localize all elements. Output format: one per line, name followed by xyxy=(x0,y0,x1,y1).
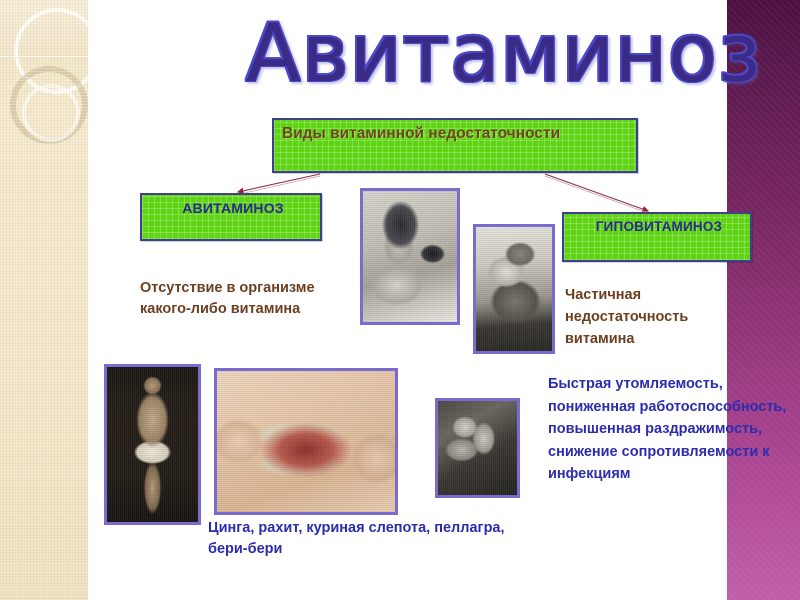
definition-hypovitaminoz: Частичная недостаточность витамина xyxy=(565,284,745,350)
photo-grain-overlay xyxy=(363,191,457,322)
box-avitaminoz: АВИТАМИНОЗ xyxy=(140,193,322,241)
photo-woman-feeding-spoon xyxy=(360,188,460,325)
presentation-slide: Авитаминоз Виды витаминной недостаточнос… xyxy=(0,0,800,600)
connector-shadow-left xyxy=(240,176,320,194)
box-top-label: Виды витаминной недостаточности xyxy=(282,124,632,143)
decorative-ring-icon xyxy=(10,66,88,144)
symptoms-list: Быстрая утомляемость, пониженная работос… xyxy=(548,373,798,486)
band-top-slice xyxy=(0,0,88,57)
diseases-caption: Цинга, рахит, куриная слепота, пеллагра,… xyxy=(208,518,508,560)
photo-grain-overlay xyxy=(217,371,395,512)
connector-to-hypovitaminoz xyxy=(545,174,648,211)
band-rings-group xyxy=(0,0,88,300)
connector-shadow-right xyxy=(545,176,648,213)
connector-to-avitaminoz xyxy=(238,174,320,192)
photo-grain-overlay xyxy=(476,227,552,351)
photo-grain-overlay xyxy=(107,367,198,522)
decorative-ring-icon xyxy=(14,8,88,94)
photo-scurvy-gums-mouth xyxy=(214,368,398,515)
box-right-label: ГИПОВИТАМИНОЗ xyxy=(564,219,754,234)
photo-grain-overlay xyxy=(438,401,517,495)
photo-malnourished-child xyxy=(104,364,201,525)
slide-title: Авитаминоз xyxy=(246,6,716,104)
box-hypovitaminoz: ГИПОВИТАМИНОЗ xyxy=(562,212,752,262)
decorative-ring-icon xyxy=(22,84,80,142)
box-left-label: АВИТАМИНОЗ xyxy=(142,200,324,216)
box-vitamin-deficiency-types: Виды витаминной недостаточности xyxy=(272,118,638,173)
left-decorative-band xyxy=(0,0,88,600)
photo-fatigued-woman xyxy=(435,398,520,498)
definition-avitaminoz: Отсутствие в организме какого-либо витам… xyxy=(140,278,340,320)
photo-woman-resting xyxy=(473,224,555,354)
